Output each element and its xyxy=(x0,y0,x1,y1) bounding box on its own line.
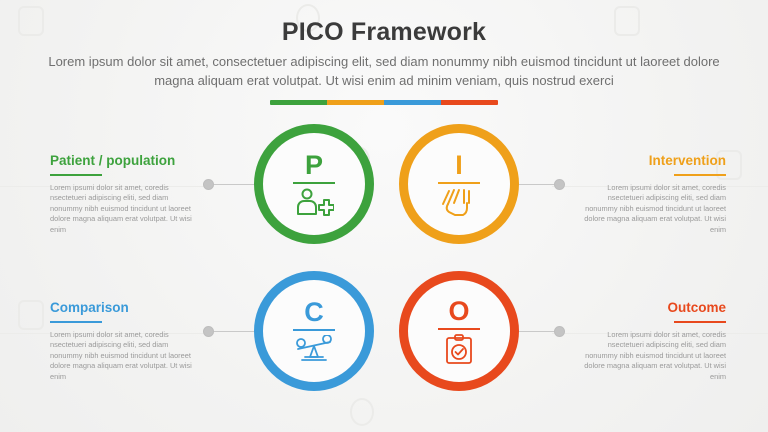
circle-node-comparison[interactable]: C xyxy=(254,271,374,391)
label-outcome: Outcome xyxy=(578,301,726,316)
circle-letter-outcome: O xyxy=(448,298,469,325)
text-block-intervention: Intervention Lorem ipsumi dolor sit amet… xyxy=(578,154,726,235)
label-intervention: Intervention xyxy=(578,154,726,169)
hand-icon xyxy=(439,188,479,216)
circle-node-intervention[interactable]: I xyxy=(399,124,519,244)
clipboard-check-icon xyxy=(442,334,476,364)
connector-dot-outcome xyxy=(554,326,565,337)
text-block-patient: Patient / population Lorem ipsumi dolor … xyxy=(50,154,198,235)
circle-rule-intervention xyxy=(438,182,480,185)
text-block-outcome: Outcome Lorem ipsumi dolor sit amet, cor… xyxy=(578,301,726,382)
description-patient: Lorem ipsumi dolor sit amet, coredis nse… xyxy=(50,183,198,236)
description-outcome: Lorem ipsumi dolor sit amet, coredis nse… xyxy=(578,330,726,383)
description-comparison: Lorem ipsumi dolor sit amet, coredis nse… xyxy=(50,330,198,383)
color-segment-red xyxy=(441,100,498,105)
text-block-comparison: Comparison Lorem ipsumi dolor sit amet, … xyxy=(50,301,198,382)
person-plus-icon xyxy=(294,188,334,216)
color-segment-blue xyxy=(384,100,441,105)
color-segment-green xyxy=(270,100,327,105)
circle-rule-comparison xyxy=(293,329,335,332)
watermark-mark xyxy=(18,300,44,330)
circle-rule-patient xyxy=(293,182,335,185)
label-underline-intervention xyxy=(674,174,726,176)
infographic-canvas: PICO Framework Lorem ipsum dolor sit ame… xyxy=(0,0,768,432)
page-subtitle: Lorem ipsum dolor sit amet, consectetuer… xyxy=(48,52,720,90)
description-intervention: Lorem ipsumi dolor sit amet, coredis nse… xyxy=(578,183,726,236)
circle-letter-intervention: I xyxy=(455,152,463,179)
label-underline-patient xyxy=(50,174,102,176)
circle-letter-patient: P xyxy=(305,152,323,179)
circle-node-outcome[interactable]: O xyxy=(399,271,519,391)
watermark-mark xyxy=(350,398,374,426)
label-underline-comparison xyxy=(50,321,102,323)
label-patient: Patient / population xyxy=(50,154,198,169)
connector-line-comparison xyxy=(214,331,254,332)
connector-dot-intervention xyxy=(554,179,565,190)
circle-node-patient[interactable]: P xyxy=(254,124,374,244)
page-title: PICO Framework xyxy=(0,18,768,47)
connector-line-patient xyxy=(214,184,254,185)
connector-dot-comparison xyxy=(203,326,214,337)
connector-line-intervention xyxy=(514,184,554,185)
label-comparison: Comparison xyxy=(50,301,198,316)
color-segment-orange xyxy=(327,100,384,105)
color-divider-bar xyxy=(270,100,498,105)
label-underline-outcome xyxy=(674,321,726,323)
connector-dot-patient xyxy=(203,179,214,190)
balance-scale-icon xyxy=(292,335,336,363)
circle-rule-outcome xyxy=(438,328,480,331)
circle-letter-comparison: C xyxy=(304,299,324,326)
connector-line-outcome xyxy=(514,331,554,332)
